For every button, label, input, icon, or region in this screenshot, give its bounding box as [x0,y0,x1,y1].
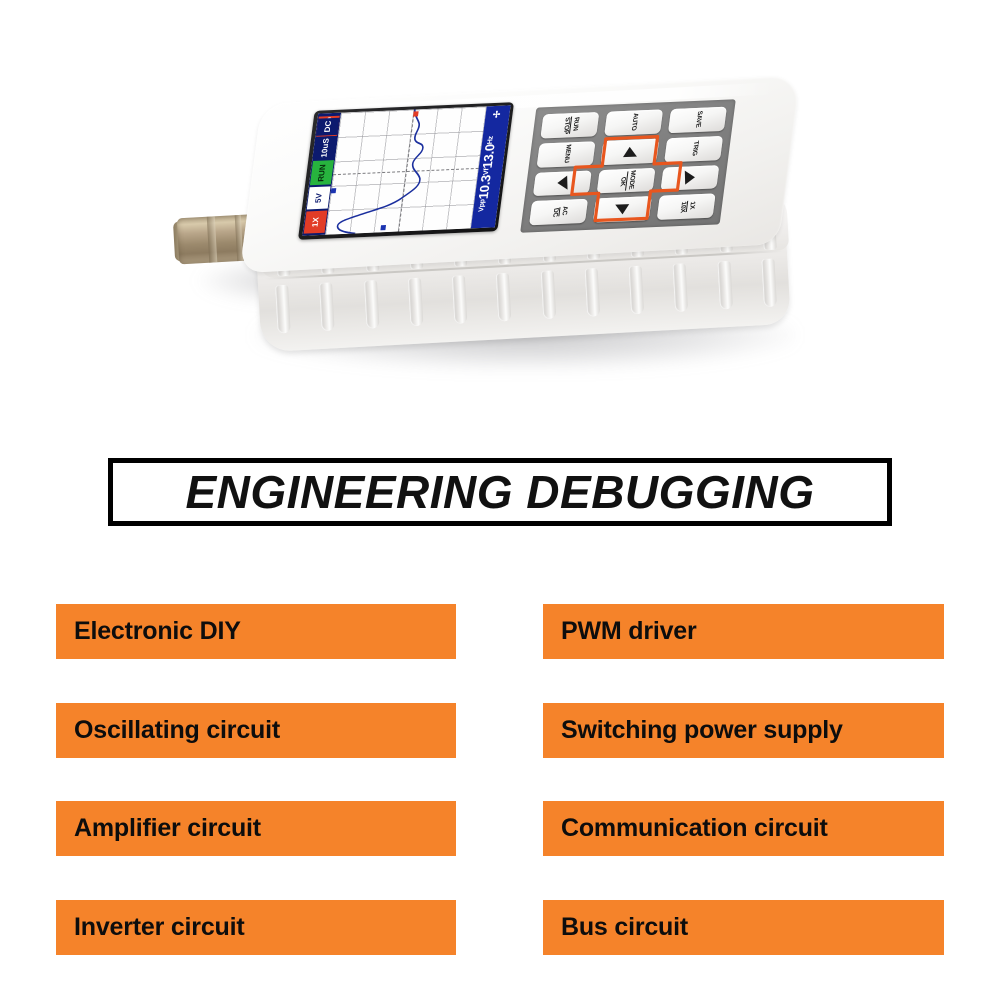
page-title: ENGINEERING DEBUGGING [185,465,814,519]
oscilloscope-device: Auto DC 10uS RUN 5V 1X Vpp10.3Vf13.0Hz ✢ [250,88,796,338]
feature-label: Communication circuit [561,814,828,843]
left-key[interactable] [533,170,592,196]
status-badge-volts-div: 5V [307,186,331,209]
move-cursor-icon: ✢ [490,107,509,118]
feature-chip: Amplifier circuit [56,801,456,856]
feature-label: Switching power supply [561,716,843,745]
status-badge-coupling: DC [316,118,339,136]
feature-label: PWM driver [561,617,697,646]
vpp-unit: V [483,171,491,176]
feature-label: Amplifier circuit [74,814,261,843]
mode-ok-key[interactable]: MODEOK [597,167,656,193]
trigger-level-marker [413,111,419,116]
auto-key[interactable]: AUTO [604,109,663,135]
feature-label-grid: Electronic DIY PWM driver Oscillating ci… [56,604,944,956]
channel-offset-marker [381,225,387,230]
feature-chip: Switching power supply [543,703,944,758]
trig-key[interactable]: TRIG [664,136,723,162]
feature-chip: Inverter circuit [56,900,456,955]
arrow-right-icon [685,171,695,185]
menu-key[interactable]: MENU [537,141,596,167]
right-key[interactable] [660,165,719,191]
feature-label: Oscillating circuit [74,716,280,745]
product-photo: Auto DC 10uS RUN 5V 1X Vpp10.3Vf13.0Hz ✢ [0,0,1000,420]
freq-unit: Hz [487,136,495,144]
menu-key-label: MENU [561,144,570,164]
attenuation-key-label: 1X10X [677,200,694,214]
waveform-plot-area [325,106,486,234]
feature-label: Electronic DIY [74,617,241,646]
arrow-up-icon [623,146,637,157]
ac-dc-key-label: ACDC [550,206,567,218]
keypad-panel: RUNSTOP AUTO SAVE MENU TRIG [520,99,736,232]
run-stop-key-label: RUNSTOP [561,115,579,135]
auto-key-label: AUTO [629,113,638,132]
freq-label: f [483,168,490,170]
feature-row: Electronic DIY PWM driver [56,604,944,659]
status-badge-probe-atten: 1X [304,211,328,234]
feature-label: Inverter circuit [74,913,244,942]
title-banner: ENGINEERING DEBUGGING [108,458,892,526]
status-badge-timebase: 10uS [313,136,337,159]
feature-row: Inverter circuit Bus circuit [56,900,944,955]
freq-value: 13.0 [480,144,498,169]
run-stop-key[interactable]: RUNSTOP [540,112,599,138]
feature-label: Bus circuit [561,913,688,942]
mode-ok-key-label: MODEOK [617,169,635,191]
attenuation-key[interactable]: 1X10X [657,194,716,220]
channel-ground-marker [331,188,337,193]
feature-chip: PWM driver [543,604,944,659]
waveform-trace [325,106,486,234]
feature-chip: Electronic DIY [56,604,456,659]
arrow-down-icon [615,204,629,215]
feature-row: Amplifier circuit Communication circuit [56,801,944,856]
feature-chip: Communication circuit [543,801,944,856]
keypad-grid: RUNSTOP AUTO SAVE MENU TRIG [529,107,727,226]
status-badge-run-state: RUN [310,160,334,185]
up-key[interactable] [600,138,659,164]
feature-row: Oscillating circuit Switching power supp… [56,703,944,758]
save-key[interactable]: SAVE [668,107,727,133]
feature-chip: Bus circuit [543,900,944,955]
arrow-left-icon [557,176,567,190]
down-key[interactable] [593,196,652,222]
trig-key-label: TRIG [689,141,698,157]
vpp-label: Vpp [478,199,487,212]
oscilloscope-screen: Auto DC 10uS RUN 5V 1X Vpp10.3Vf13.0Hz ✢ [302,105,510,235]
vpp-value: 10.3 [476,175,494,200]
feature-chip: Oscillating circuit [56,703,456,758]
ac-dc-key[interactable]: ACDC [529,199,588,225]
save-key-label: SAVE [693,111,702,129]
